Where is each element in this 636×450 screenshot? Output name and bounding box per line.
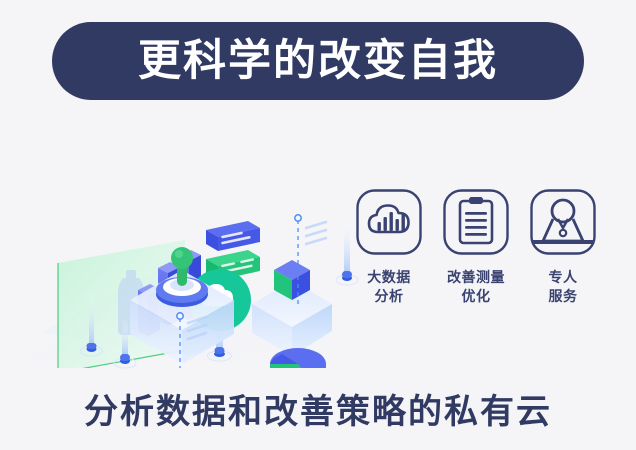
cloud-bar-chart-icon (355, 188, 423, 256)
label-card-blue (206, 221, 260, 251)
service-person-icon (529, 188, 597, 256)
feature-label-service: 专人 服务 (549, 268, 578, 306)
hero-illustration (30, 118, 370, 368)
feature-label-line1: 专人 (549, 268, 578, 287)
banner-title: 更科学的改变自我 (138, 40, 498, 83)
gradient-rod-left-bottom (105, 318, 145, 373)
feature-item-service[interactable]: 专人 服务 (526, 188, 600, 333)
feature-label-line2: 服务 (549, 287, 578, 306)
feature-label-big-data: 大数据 分析 (367, 268, 411, 306)
clipboard-icon (442, 188, 510, 256)
tagline: 分析数据和改善策略的私有云 (0, 384, 636, 433)
feature-label-measurement: 改善测量 优化 (447, 268, 505, 306)
promo-banner-page: 更科学的改变自我 (0, 0, 636, 450)
feature-label-line1: 改善测量 (447, 268, 505, 287)
feature-label-line2: 分析 (367, 287, 411, 306)
feature-label-line1: 大数据 (367, 268, 411, 287)
feature-list: 大数据 分析 改善测量 (352, 188, 600, 333)
header-banner: 更科学的改变自我 (52, 22, 584, 100)
feature-item-big-data[interactable]: 大数据 分析 (352, 188, 426, 333)
feature-item-measurement[interactable]: 改善测量 优化 (439, 188, 513, 333)
feature-label-line2: 优化 (447, 287, 505, 306)
